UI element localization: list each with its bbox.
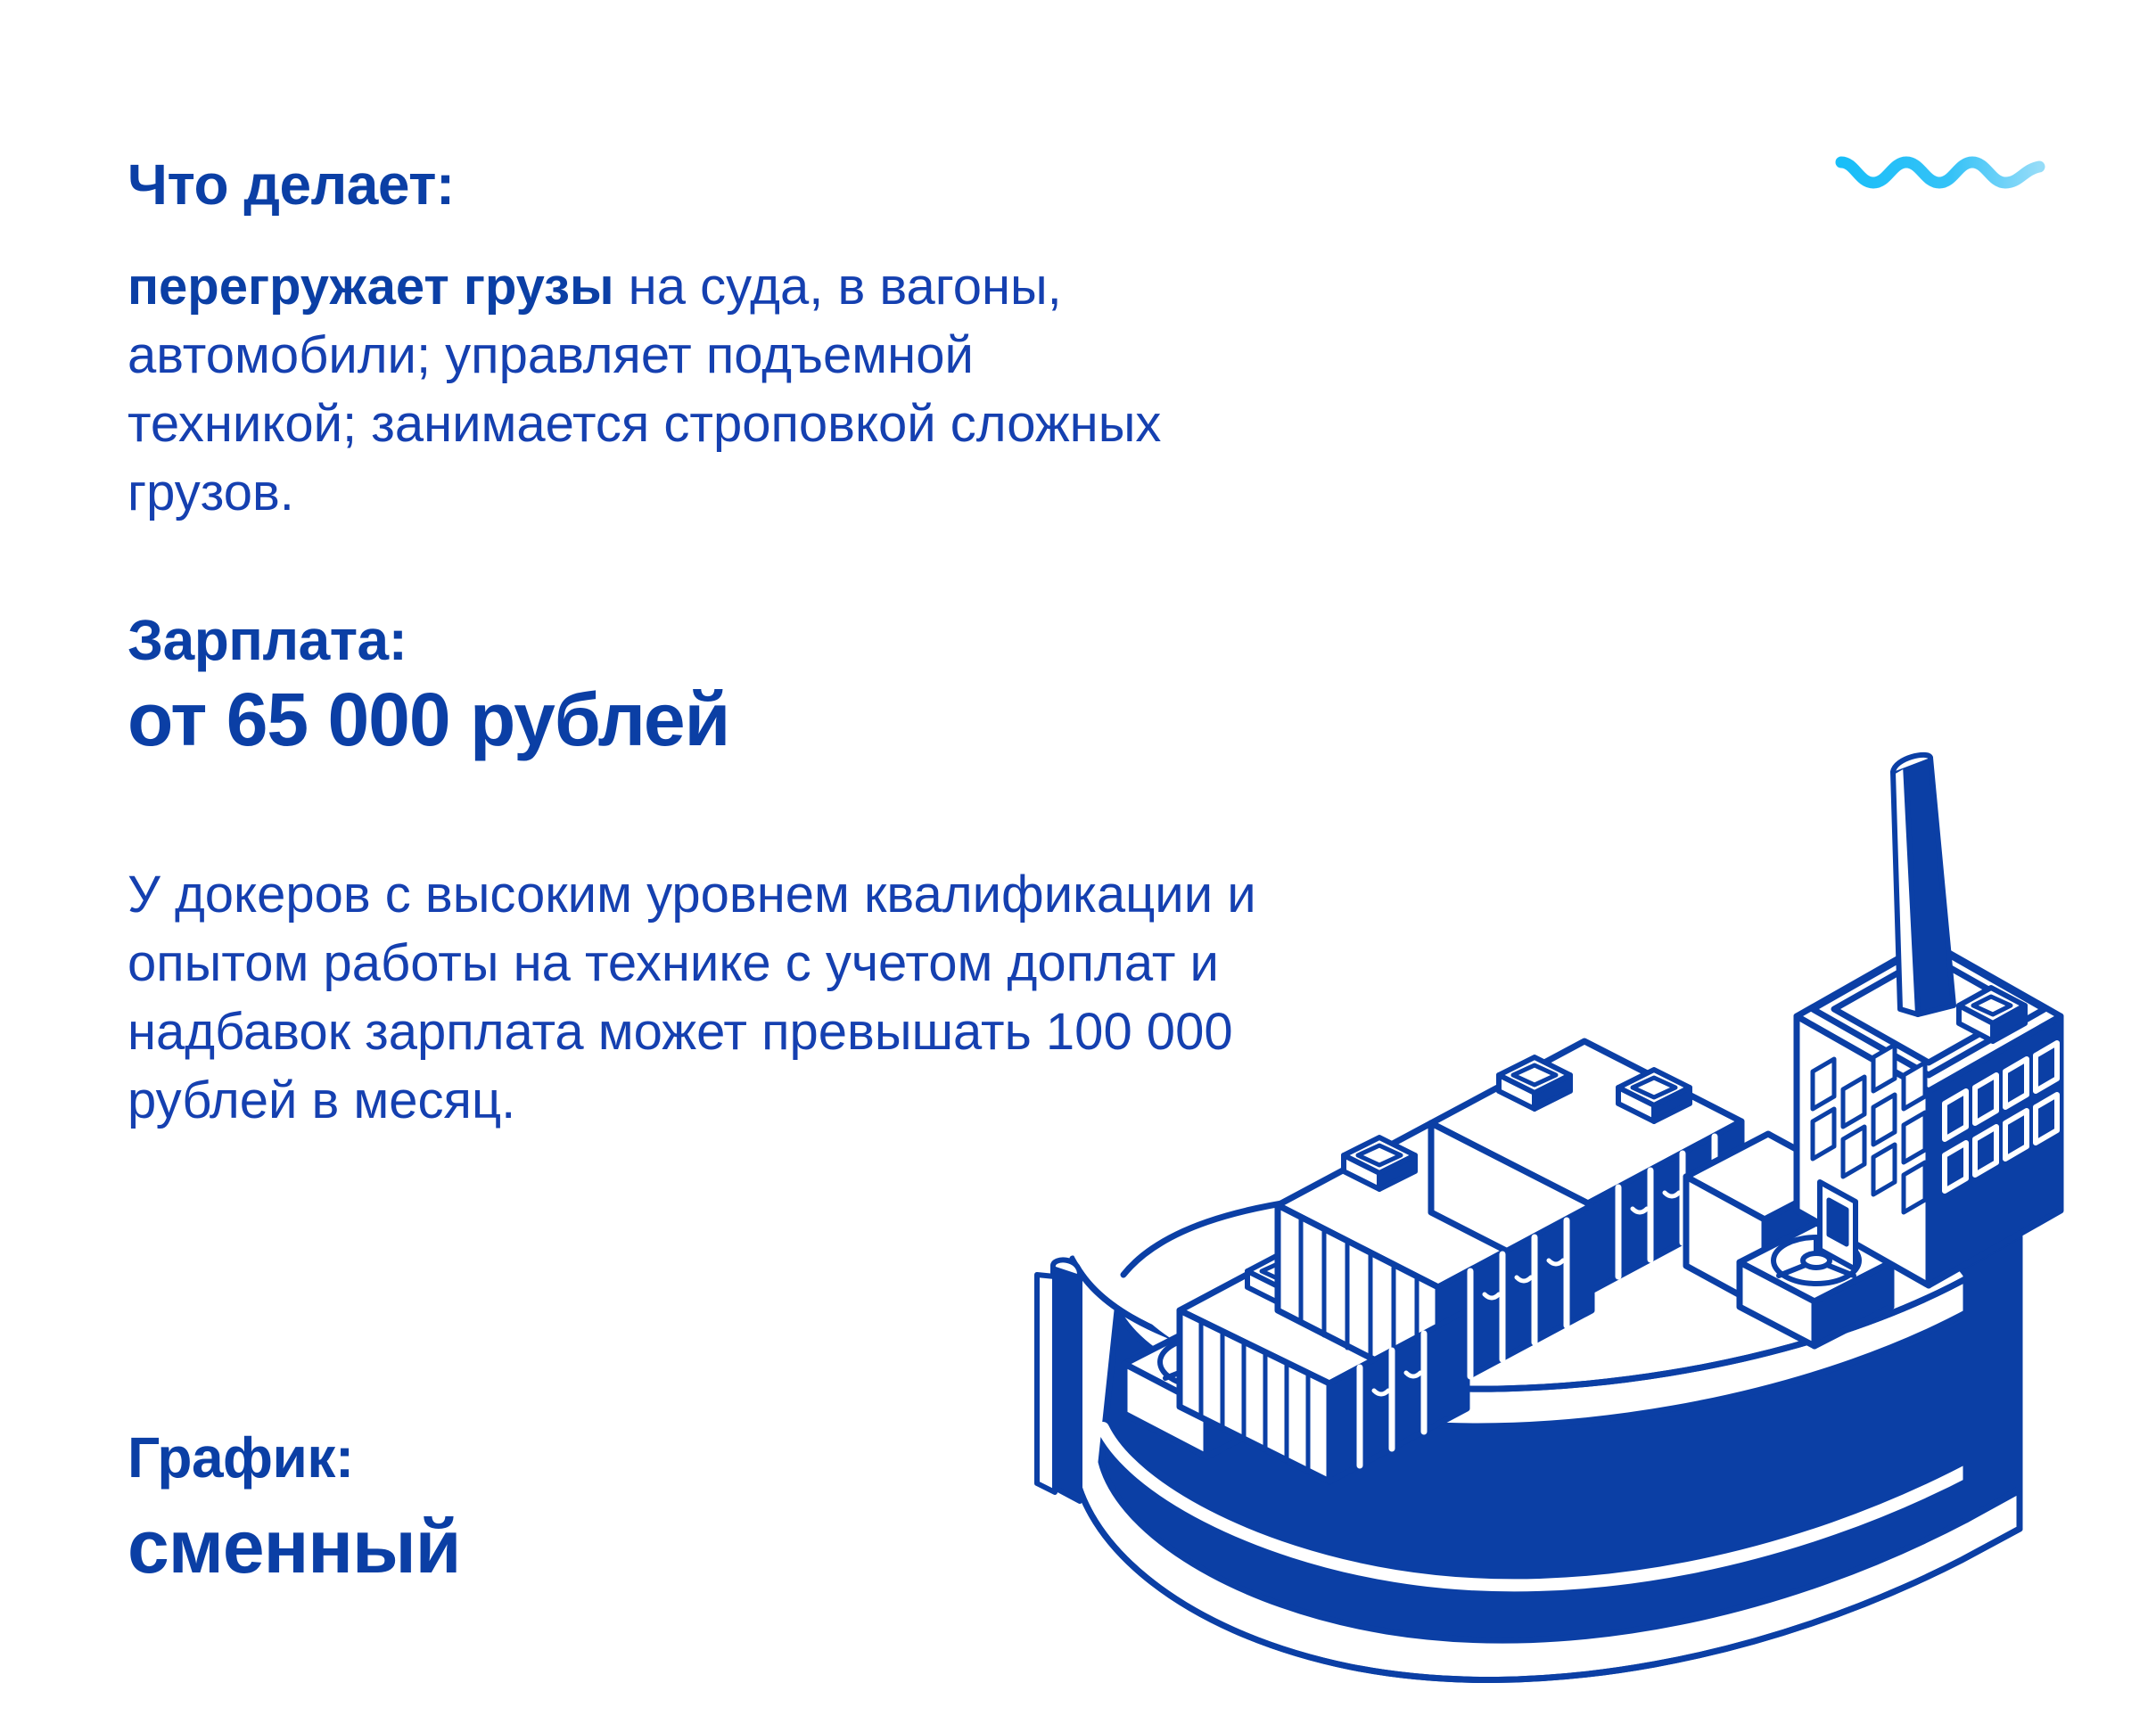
container-ship-illustration <box>967 660 2127 1712</box>
salary-section-title: Зарплата: <box>128 609 407 673</box>
salary-amount: от 65 000 рублей <box>128 679 729 760</box>
what-section-title: Что делает: <box>128 153 455 218</box>
schedule-value: сменный <box>128 1506 460 1588</box>
infographic-page: Что делает: перегружает грузы на суда, в… <box>0 0 2156 1724</box>
what-body-bold-run: перегружает грузы <box>128 258 614 316</box>
wave-icon <box>1832 143 2055 205</box>
what-section-body: перегружает грузы на суда, в вагоны, авт… <box>128 252 1180 528</box>
schedule-section-title: График: <box>128 1426 354 1490</box>
